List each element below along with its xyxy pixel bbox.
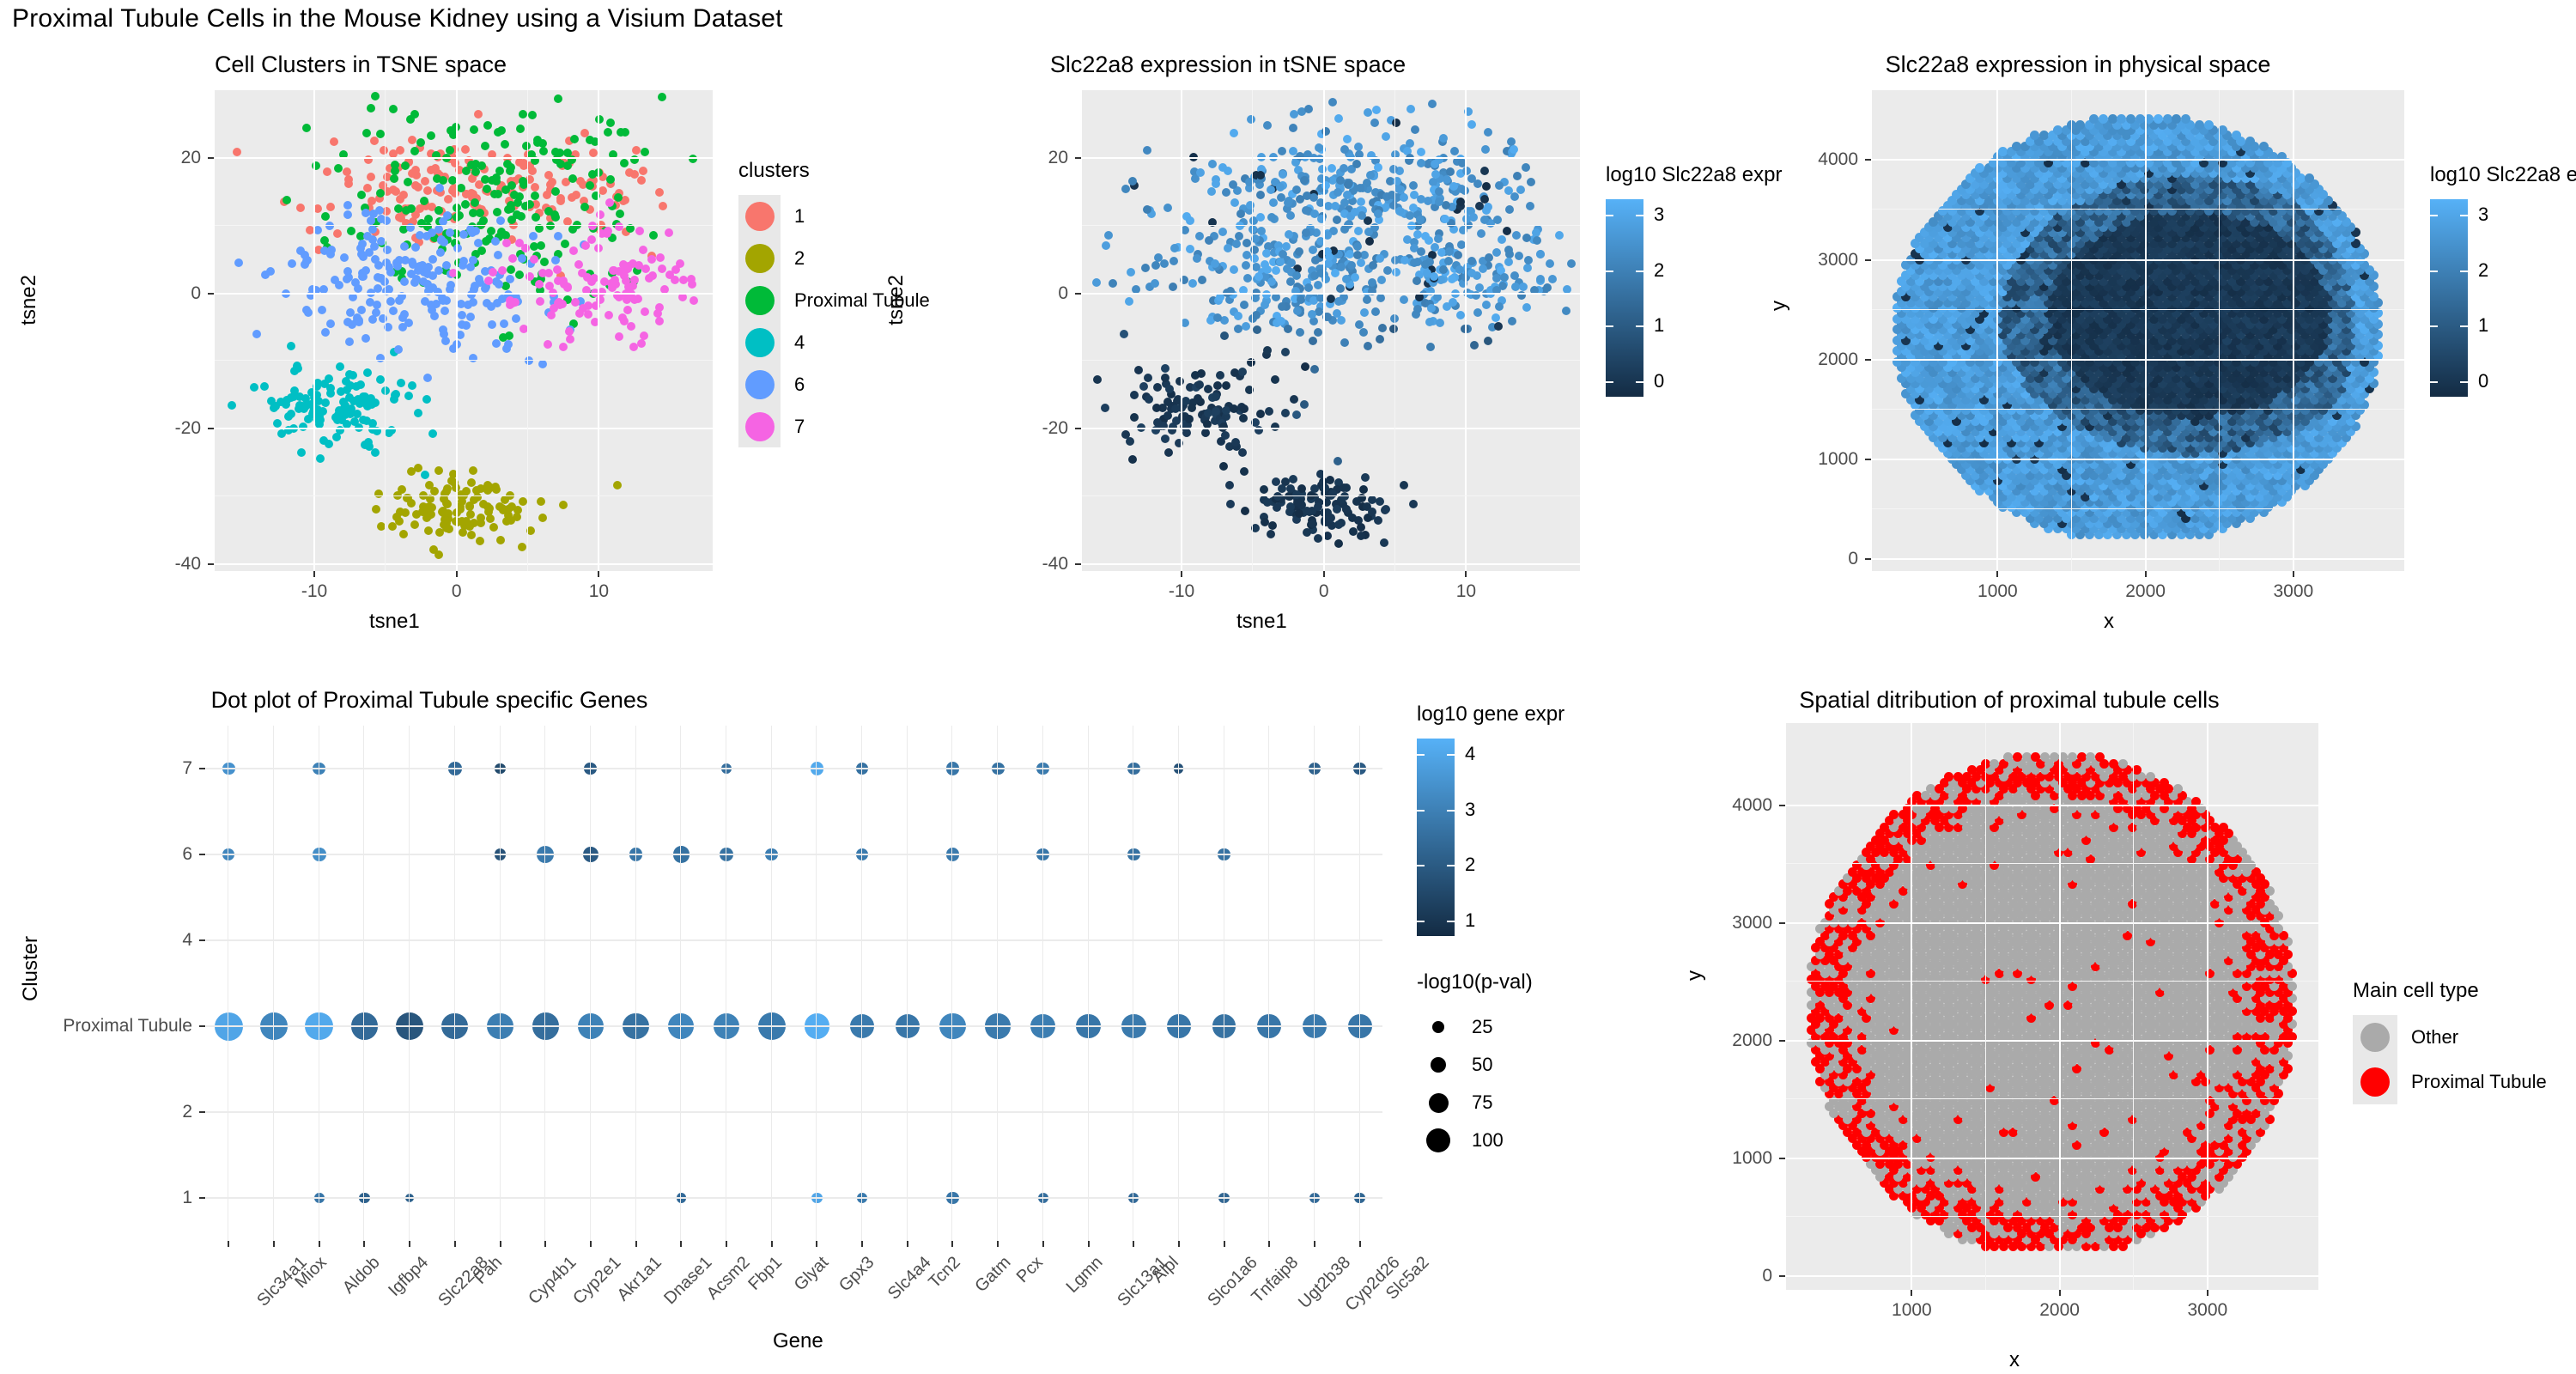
scatter-point (304, 308, 313, 317)
legend-color-dot (745, 286, 775, 315)
gridline-horizontal (1082, 293, 1580, 295)
scatter-point (1287, 258, 1296, 267)
scatter-point (389, 105, 398, 113)
scatter-point (606, 119, 615, 127)
x-tick (1181, 571, 1182, 577)
scatter-point (587, 277, 596, 286)
scatter-point (261, 271, 270, 279)
scatter-point (1484, 128, 1492, 137)
panel-title: Slc22a8 expression in tSNE space (867, 52, 1589, 78)
plot-area (1872, 90, 2404, 571)
scatter-point (276, 398, 285, 406)
scatter-point (477, 246, 486, 255)
scatter-point (596, 210, 605, 219)
scatter-point (1256, 213, 1265, 222)
scatter-point (1434, 234, 1443, 243)
scatter-point (516, 125, 525, 133)
scatter-point (359, 252, 368, 261)
scatter-point (1413, 277, 1421, 285)
scatter-point (1302, 228, 1310, 237)
legend-key-swatch (738, 195, 781, 237)
scatter-point (1467, 269, 1476, 277)
scatter-point (1121, 185, 1130, 193)
scatter-point (1194, 394, 1202, 403)
scatter-point (386, 297, 395, 306)
scatter-point (1523, 264, 1532, 272)
scatter-point (687, 275, 696, 283)
scatter-point (569, 246, 578, 255)
scatter-point (325, 222, 334, 230)
x-tick-label: 0 (1319, 581, 1329, 602)
scatter-point (1296, 328, 1304, 337)
scatter-point (506, 296, 514, 305)
scatter-point (1342, 483, 1351, 492)
scatter-point (357, 306, 366, 314)
scatter-point (587, 235, 596, 244)
scatter-point (1340, 338, 1349, 347)
scatter-point (676, 259, 684, 268)
scatter-point (361, 209, 370, 217)
scatter-point (1388, 191, 1396, 199)
scatter-point (1512, 231, 1521, 240)
gridline-vertical (1465, 90, 1467, 571)
scatter-point (1400, 481, 1408, 489)
colorbar-tick (1636, 325, 1643, 327)
scatter-point (427, 301, 435, 309)
scatter-point (649, 231, 658, 240)
scatter-point (1276, 258, 1285, 266)
scatter-point (457, 184, 465, 192)
scatter-point (1161, 435, 1170, 443)
scatter-point (326, 319, 335, 328)
y-tick (1075, 157, 1081, 159)
scatter-point (1229, 180, 1237, 189)
scatter-point (1234, 312, 1242, 320)
y-tick-label: -20 (175, 418, 201, 439)
scatter-point (341, 401, 349, 410)
scatter-point (465, 522, 474, 531)
scatter-point (1263, 121, 1272, 130)
scatter-point (1169, 283, 1177, 291)
scatter-point (1295, 247, 1303, 256)
scatter-point (1400, 256, 1409, 264)
scatter-point (389, 307, 398, 315)
scatter-point (376, 189, 385, 198)
scatter-point (1356, 184, 1364, 192)
scatter-point (517, 212, 526, 221)
scatter-point (381, 386, 390, 395)
scatter-point (656, 253, 665, 262)
scatter-point (390, 174, 398, 183)
scatter-point (326, 389, 335, 398)
scatter-point (461, 200, 470, 209)
scatter-point (540, 258, 549, 266)
scatter-point (1293, 307, 1302, 315)
scatter-point (1267, 277, 1276, 286)
scatter-point (1143, 146, 1151, 155)
scatter-point (476, 537, 484, 545)
scatter-point (1222, 381, 1230, 390)
scatter-point (570, 135, 579, 143)
scatter-point (1357, 198, 1365, 206)
scatter-point (1436, 319, 1444, 327)
scatter-point (1348, 514, 1357, 522)
scatter-point (1343, 135, 1352, 143)
scatter-point (296, 246, 305, 255)
scatter-point (1207, 187, 1216, 196)
scatter-point (457, 300, 465, 308)
scatter-point (1284, 325, 1292, 333)
scatter-point (349, 293, 357, 301)
scatter-point (1125, 297, 1133, 306)
scatter-point (1153, 383, 1162, 392)
scatter-point (1218, 228, 1227, 236)
scatter-point (466, 313, 475, 321)
scatter-point (1309, 246, 1317, 254)
scatter-point (1456, 311, 1465, 319)
scatter-point (1446, 167, 1455, 176)
scatter-point (1482, 301, 1491, 309)
scatter-point (233, 148, 241, 156)
scatter-point (1369, 261, 1377, 270)
scatter-point (325, 374, 333, 383)
legend-color-dot (745, 370, 775, 399)
legend-item-label: 4 (794, 331, 805, 354)
scatter-point (1230, 129, 1238, 137)
scatter-point (469, 466, 477, 475)
scatter-point (458, 311, 466, 319)
scatter-point (1477, 229, 1485, 238)
scatter-point (1363, 295, 1371, 304)
scatter-point (1220, 316, 1229, 325)
scatter-point (394, 345, 403, 354)
scatter-point (428, 429, 437, 438)
scatter-point (559, 501, 568, 509)
scatter-point (407, 499, 416, 508)
scatter-point (1272, 266, 1280, 275)
scatter-point (1444, 257, 1453, 265)
scatter-point (494, 128, 502, 137)
scatter-point (361, 334, 370, 343)
scatter-point (411, 181, 420, 190)
scatter-point (561, 240, 569, 248)
scatter-point (1290, 110, 1298, 119)
scatter-point (400, 310, 409, 319)
gridline-minor (1252, 90, 1253, 571)
scatter-point (600, 277, 609, 286)
x-tick (1465, 571, 1467, 577)
scatter-point (382, 207, 391, 216)
scatter-point (441, 337, 450, 345)
scatter-point (363, 368, 372, 377)
scatter-point (1260, 485, 1268, 494)
scatter-point (627, 322, 635, 331)
scatter-point (401, 508, 410, 517)
scatter-point (500, 319, 508, 328)
scatter-point (1104, 231, 1113, 240)
scatter-point (502, 239, 511, 247)
scatter-point (459, 528, 467, 537)
scatter-point (1265, 407, 1273, 416)
scatter-point (1333, 505, 1341, 514)
gridline-horizontal (215, 157, 713, 159)
scatter-point (1340, 145, 1349, 154)
y-tick-label: 20 (181, 148, 201, 168)
scatter-point (357, 191, 366, 199)
scatter-point (609, 266, 617, 275)
scatter-point (504, 340, 513, 349)
scatter-point (1186, 216, 1194, 225)
scatter-point (411, 243, 420, 252)
scatter-point (400, 242, 409, 251)
scatter-point (321, 328, 330, 337)
scatter-point (659, 202, 667, 210)
scatter-point (368, 315, 377, 324)
scatter-point (467, 478, 476, 487)
scatter-point (440, 515, 449, 524)
scatter-point (481, 284, 489, 293)
scatter-point (616, 210, 624, 218)
scatter-point (427, 131, 435, 140)
scatter-point (1334, 520, 1343, 529)
gridline-vertical (1323, 90, 1325, 571)
scatter-point (1144, 374, 1152, 382)
scatter-point (287, 342, 295, 350)
colorbar-tick (1636, 381, 1643, 383)
scatter-point (1417, 247, 1425, 256)
scatter-point (1383, 266, 1392, 275)
scatter-point (1240, 404, 1249, 413)
scatter-point (296, 204, 305, 212)
scatter-point (1256, 410, 1265, 418)
scatter-point (1504, 186, 1513, 195)
scatter-point (1475, 202, 1484, 210)
scatter-point (466, 510, 475, 519)
scatter-point (1309, 337, 1317, 345)
scatter-point (1351, 208, 1359, 216)
scatter-point (288, 259, 296, 268)
scatter-point (1548, 275, 1557, 283)
scatter-point (1431, 243, 1439, 252)
colorbar-tick (1606, 271, 1613, 272)
colorbar-tick (1606, 381, 1613, 383)
scatter-point (1376, 254, 1384, 263)
scatter-point (428, 255, 437, 264)
y-tick-label: 0 (191, 283, 201, 304)
scatter-point (1279, 170, 1287, 179)
y-tick (1075, 563, 1081, 565)
gridline-minor (1394, 90, 1395, 571)
panel-tsne-clusters: Cell Clusters in TSNE space tsne2 tsne1 … (0, 52, 936, 670)
panel-tsne-slc22a8: Slc22a8 expression in tSNE space tsne2 t… (867, 52, 1803, 670)
scatter-point (393, 262, 402, 271)
scatter-point (407, 204, 416, 213)
scatter-point (1536, 250, 1545, 258)
scatter-point (1449, 182, 1458, 191)
scatter-point (408, 136, 416, 144)
scatter-point (1470, 341, 1479, 350)
scatter-point (1219, 462, 1228, 471)
y-tick-label: -40 (175, 554, 201, 575)
scatter-point (533, 136, 542, 144)
gridline-minor (215, 495, 713, 496)
scatter-point (1292, 410, 1301, 419)
scatter-point (521, 202, 530, 210)
scatter-point (1213, 381, 1222, 390)
colorbar-tick (1606, 215, 1613, 216)
scatter-point (1301, 362, 1309, 371)
scatter-point (1359, 485, 1368, 494)
scatter-point (433, 174, 441, 183)
legend-color-dot (745, 328, 775, 357)
plot-area (215, 90, 713, 571)
scatter-point (372, 505, 380, 514)
scatter-point (586, 136, 594, 144)
scatter-point (260, 382, 269, 391)
gridline-minor (1082, 225, 1580, 226)
scatter-point (1516, 185, 1525, 194)
scatter-point (535, 280, 544, 289)
scatter-point (1445, 247, 1454, 256)
scatter-point (423, 374, 432, 382)
scatter-point (362, 129, 371, 137)
scatter-point (466, 263, 475, 271)
gridline-vertical (313, 90, 315, 571)
scatter-point (1245, 386, 1254, 394)
scatter-point (1425, 236, 1433, 245)
scatter-point (1495, 181, 1504, 190)
scatter-point (1272, 477, 1280, 486)
scatter-point (493, 208, 501, 216)
scatter-point (1300, 400, 1309, 409)
scatter-point (437, 235, 446, 244)
scatter-point (1515, 252, 1523, 260)
scatter-point (620, 159, 629, 167)
x-tick-label: -10 (301, 581, 327, 602)
scatter-point (1271, 375, 1279, 384)
scatter-point (330, 137, 338, 146)
scatter-point (578, 269, 586, 277)
scatter-point (531, 183, 539, 192)
scatter-point (319, 407, 327, 416)
scatter-point (547, 311, 556, 319)
scatter-point (351, 278, 360, 287)
scatter-point (1513, 172, 1522, 180)
scatter-point (491, 237, 500, 246)
scatter-point (1292, 185, 1301, 194)
scatter-point (1242, 322, 1250, 331)
y-axis-title: tsne2 (17, 275, 41, 325)
scatter-point (343, 318, 352, 326)
gridline-vertical (598, 90, 599, 571)
scatter-point (1413, 305, 1422, 313)
scatter-point (303, 256, 312, 264)
scatter-point (1165, 385, 1174, 393)
x-axis-title: tsne1 (369, 610, 420, 634)
gridline-horizontal (1082, 428, 1580, 429)
scatter-point (1426, 343, 1435, 351)
scatter-point (1161, 364, 1170, 373)
scatter-point (382, 216, 391, 225)
scatter-point (1263, 265, 1272, 274)
scatter-point (470, 495, 478, 504)
scatter-point (1334, 539, 1343, 548)
y-tick (1075, 293, 1081, 295)
scatter-point (536, 297, 544, 306)
colorbar-tick (1636, 215, 1643, 216)
scatter-point (1216, 371, 1224, 380)
scatter-point (1423, 269, 1431, 277)
scatter-point (1253, 325, 1261, 334)
scatter-point (507, 265, 515, 274)
scatter-point (1170, 257, 1178, 265)
x-tick (313, 571, 315, 577)
scatter-point (467, 290, 476, 299)
scatter-point (397, 379, 405, 387)
scatter-point (1361, 473, 1370, 482)
scatter-point (503, 160, 512, 168)
scatter-point (1282, 242, 1291, 251)
scatter-point (404, 392, 413, 400)
scatter-point (440, 307, 449, 315)
scatter-point (273, 419, 282, 428)
scatter-point (1128, 177, 1137, 185)
colorbar-tick-label: 1 (1654, 314, 1664, 337)
scatter-point (1314, 281, 1322, 289)
gridline-horizontal (215, 428, 713, 429)
panel-title: Cell Clusters in TSNE space (0, 52, 721, 78)
gridline-horizontal (1082, 157, 1580, 159)
scatter-point (1151, 279, 1159, 288)
scatter-point (367, 104, 375, 112)
scatter-point (481, 142, 489, 150)
scatter-point (445, 525, 453, 533)
scatter-point (641, 148, 649, 156)
scatter-point (1380, 538, 1388, 547)
scatter-point (563, 161, 572, 170)
scatter-point (474, 110, 483, 119)
scatter-point (1510, 192, 1519, 201)
scatter-point (1221, 431, 1230, 440)
scatter-point (1164, 448, 1173, 457)
scatter-point (1120, 330, 1128, 338)
scatter-point (1196, 168, 1205, 177)
scatter-point (1481, 145, 1490, 154)
scatter-point (1431, 170, 1440, 179)
scatter-point (1182, 429, 1191, 437)
scatter-point (588, 222, 597, 230)
scatter-point (396, 146, 404, 155)
scatter-point (655, 188, 664, 197)
scatter-point (508, 254, 517, 263)
scatter-point (1467, 120, 1476, 129)
scatter-point (1163, 398, 1172, 406)
scatter-point (502, 517, 511, 526)
scatter-point (689, 155, 697, 163)
gridline-minor (215, 360, 713, 361)
scatter-point (333, 229, 342, 238)
scatter-point (371, 92, 380, 100)
scatter-point (1365, 237, 1374, 246)
scatter-point (1185, 415, 1194, 423)
scatter-point (1278, 147, 1286, 155)
scatter-point (1101, 404, 1109, 412)
scatter-point (550, 210, 559, 219)
scatter-point (1360, 308, 1369, 317)
scatter-point (1454, 251, 1462, 259)
gridline-minor (1082, 360, 1580, 361)
scatter-point (1238, 368, 1247, 376)
